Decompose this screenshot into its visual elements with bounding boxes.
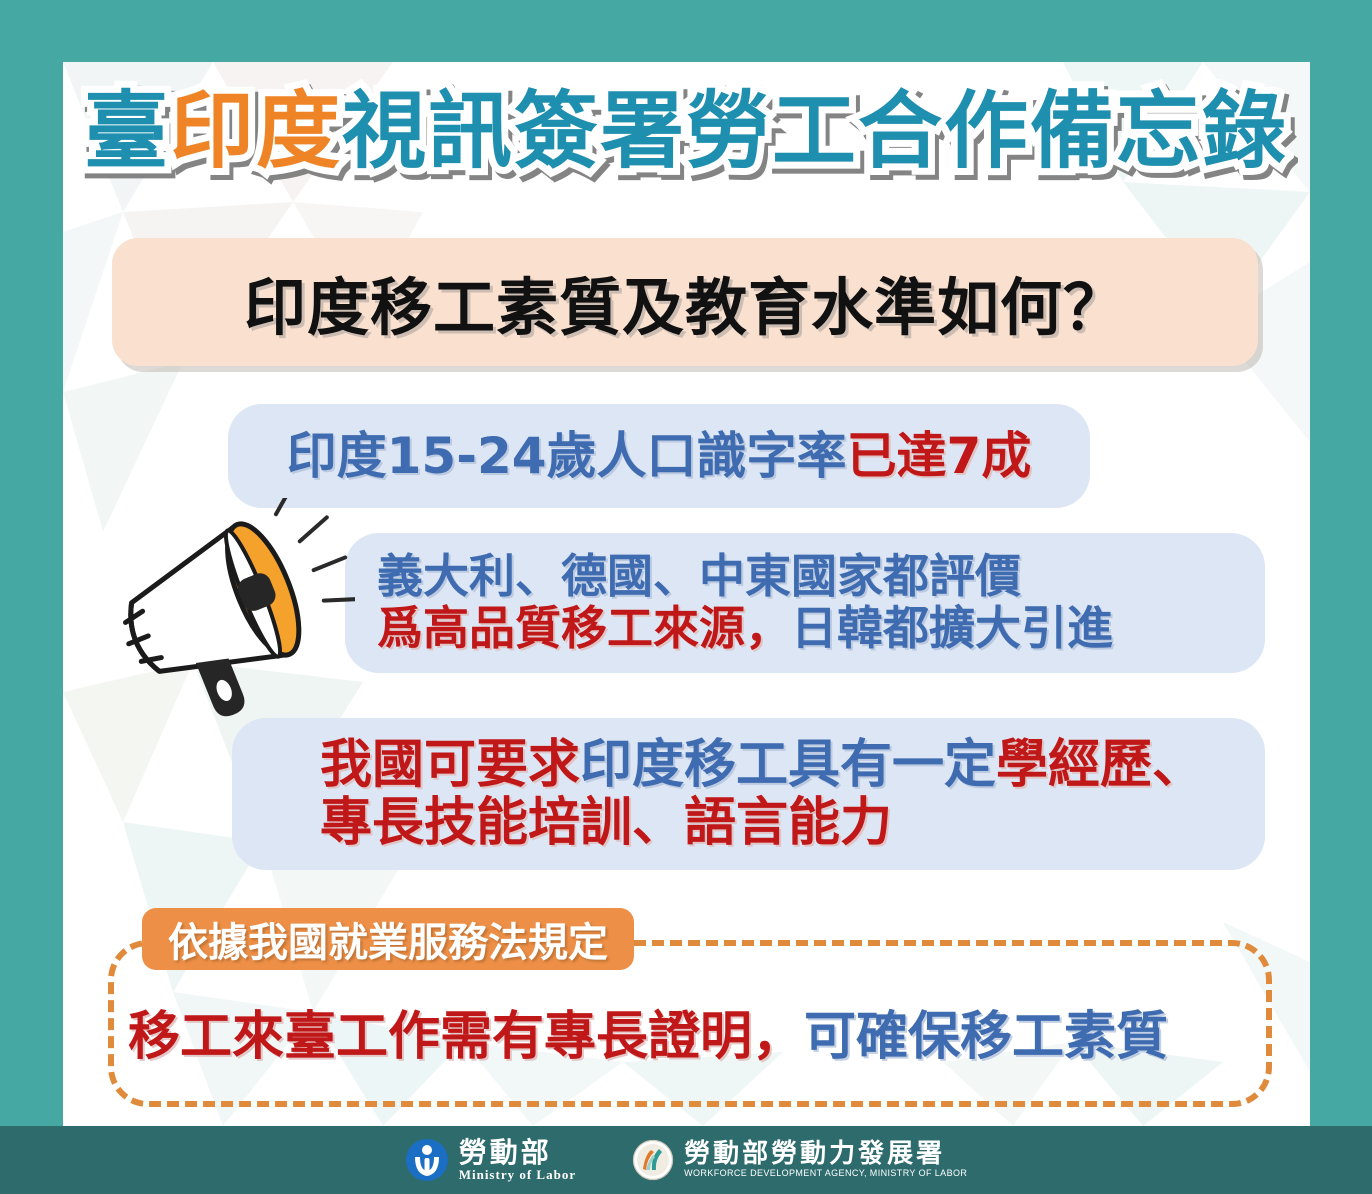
callout-line: 印度15-24歲人口識字率已達7成: [287, 428, 1032, 484]
question-band: 印度移工素質及教育水準如何？: [112, 238, 1258, 366]
callout-segment-highlight: 學經歷、: [996, 735, 1204, 795]
wda-en: WORKFORCE DEVELOPMENT AGENCY, MINISTRY O…: [684, 1169, 967, 1179]
workforce-development-agency-text: 勞動部勞動力發展署 WORKFORCE DEVELOPMENT AGENCY, …: [684, 1141, 967, 1178]
legal-section-text: 移工來臺工作需有專長證明，可確保移工素質: [128, 992, 1258, 1082]
footer-bar: 勞動部 Ministry of Labor 勞動部勞動力發展署 WORKFORC…: [0, 1126, 1372, 1194]
callout-line: 我國可要求印度移工具有一定學經歷、: [320, 736, 1265, 794]
callout-segment: 印度移工具有一定: [580, 735, 996, 795]
legal-segment-highlight: 移工來臺工作需有專長證明，: [128, 1008, 804, 1066]
question-text: 印度移工素質及教育水準如何？: [244, 257, 1126, 347]
title-part-india: 印度: [170, 82, 342, 180]
ministry-of-labor-logo-icon: [405, 1138, 449, 1182]
callout-line: 專長技能培訓、語言能力: [320, 794, 1265, 852]
megaphone-icon: [85, 498, 355, 738]
legal-basis-tag: 依據我國就業服務法規定: [142, 908, 634, 970]
callout-line: 義大利、德國、中東國家都評價: [377, 551, 1265, 603]
callout-segment-highlight: 專長技能培訓、語言能力: [320, 793, 892, 853]
poster-title: 臺印度視訊簽署勞工合作備忘錄: [0, 76, 1372, 186]
callout-line: 爲高品質移工來源，日韓都擴大引進: [377, 603, 1265, 655]
workforce-development-agency-logo-icon: [632, 1139, 674, 1181]
logo-workforce-development-agency: 勞動部勞動力發展署 WORKFORCE DEVELOPMENT AGENCY, …: [632, 1139, 967, 1181]
callout-taiwan-requirements: 我國可要求印度移工具有一定學經歷、 專長技能培訓、語言能力: [232, 718, 1265, 870]
callout-international-reputation: 義大利、德國、中東國家都評價 爲高品質移工來源，日韓都擴大引進: [345, 533, 1265, 673]
callout-literacy: 印度15-24歲人口識字率已達7成: [228, 404, 1090, 508]
legal-segment: 可確保移工素質: [804, 1008, 1168, 1066]
callout-segment-highlight: 已達7成: [847, 427, 1032, 485]
ministry-of-labor-text: 勞動部 Ministry of Labor: [459, 1138, 576, 1182]
callout-segment-highlight: 爲高品質移工來源，: [377, 601, 791, 655]
title-part-taiwan: 臺: [84, 82, 170, 180]
wda-cn: 勞動部勞動力發展署: [684, 1141, 967, 1168]
title-part-rest: 視訊簽署勞工合作備忘錄: [342, 82, 1288, 180]
legal-basis-tag-label: 依據我國就業服務法規定: [168, 910, 608, 968]
callout-segment: 義大利、德國、中東國家都評價: [377, 549, 1021, 603]
callout-segment-highlight: 我國可要求: [320, 735, 580, 795]
ministry-of-labor-cn: 勞動部: [459, 1138, 576, 1167]
infographic-poster: 臺印度視訊簽署勞工合作備忘錄 印度移工素質及教育水準如何？ 印度15-24歲人口…: [0, 0, 1372, 1194]
ministry-of-labor-en: Ministry of Labor: [459, 1168, 576, 1182]
callout-segment: 印度15-24歲人口識字率: [287, 427, 847, 485]
title-text: 臺印度視訊簽署勞工合作備忘錄: [84, 76, 1288, 186]
callout-segment: 日韓都擴大引進: [791, 601, 1113, 655]
logo-ministry-of-labor: 勞動部 Ministry of Labor: [405, 1138, 576, 1182]
